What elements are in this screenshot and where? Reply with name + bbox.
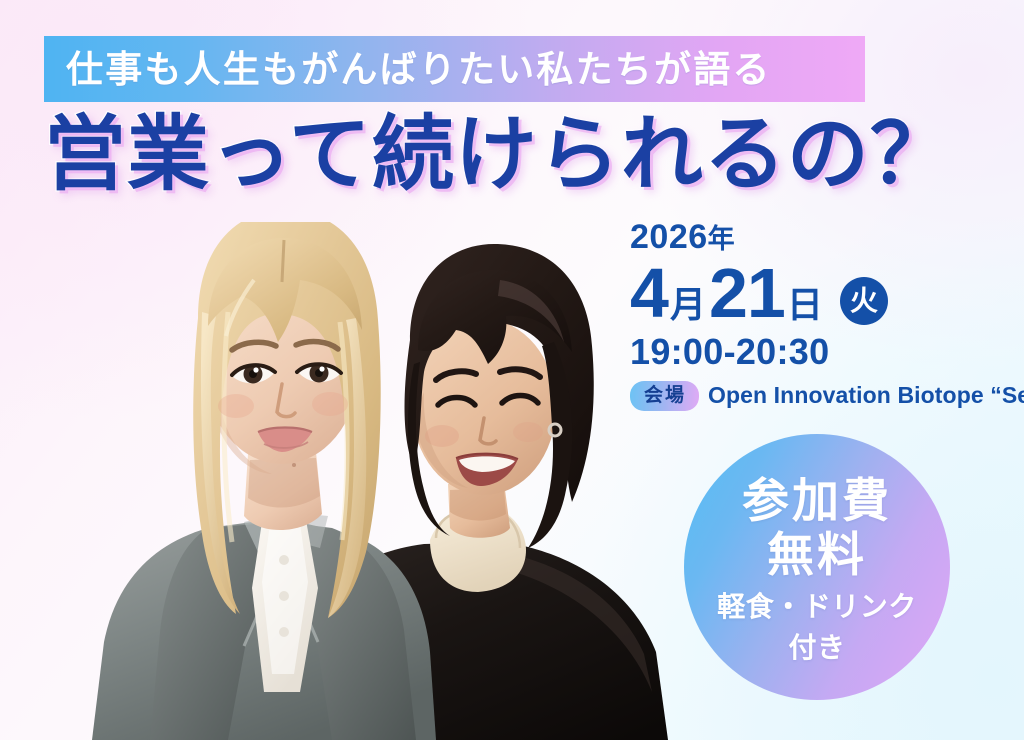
event-year-number: 2026 bbox=[630, 218, 708, 256]
price-badge: 参加費 無料 軽食・ドリンク 付き bbox=[684, 434, 950, 700]
day-of-week-badge: 火 bbox=[840, 277, 888, 325]
venue-row: 会場 Open Innovation Biotope “Sea” bbox=[630, 381, 1024, 411]
photo-subject-left bbox=[92, 222, 436, 740]
event-day-unit: 日 bbox=[785, 287, 826, 328]
event-details: 2026年 4 月 21 日 火 19:00-20:30 会場 Open Inn… bbox=[630, 218, 1024, 411]
event-year-unit: 年 bbox=[708, 224, 736, 254]
price-note-included: 付き bbox=[788, 631, 845, 665]
subtitle-text: 仕事も人生もがんばりたい私たちが語る bbox=[66, 51, 772, 88]
venue-name: Open Innovation Biotope “Sea” bbox=[708, 382, 1024, 409]
photo-illustration bbox=[32, 222, 668, 740]
speakers-photo bbox=[32, 222, 668, 740]
event-date-line: 4 月 21 日 火 bbox=[630, 258, 1024, 328]
event-month-unit: 月 bbox=[668, 287, 709, 328]
event-poster: 仕事も人生もがんばりたい私たちが語る 営業って続けられるの？ 2026年 4 月… bbox=[0, 0, 1024, 740]
subtitle-ribbon: 仕事も人生もがんばりたい私たちが語る bbox=[44, 36, 865, 102]
venue-badge-label: 会場 bbox=[630, 381, 699, 411]
event-time: 19:00-20:30 bbox=[630, 332, 1024, 372]
event-year: 2026年 bbox=[630, 218, 1024, 256]
price-label-fee: 参加費 bbox=[742, 474, 892, 529]
price-note-refreshments: 軽食・ドリンク bbox=[717, 590, 917, 624]
price-label-free: 無料 bbox=[767, 528, 867, 583]
page-title: 営業って続けられるの？ bbox=[44, 112, 974, 198]
event-month-number: 4 bbox=[630, 258, 668, 328]
event-day-number: 21 bbox=[709, 258, 785, 328]
